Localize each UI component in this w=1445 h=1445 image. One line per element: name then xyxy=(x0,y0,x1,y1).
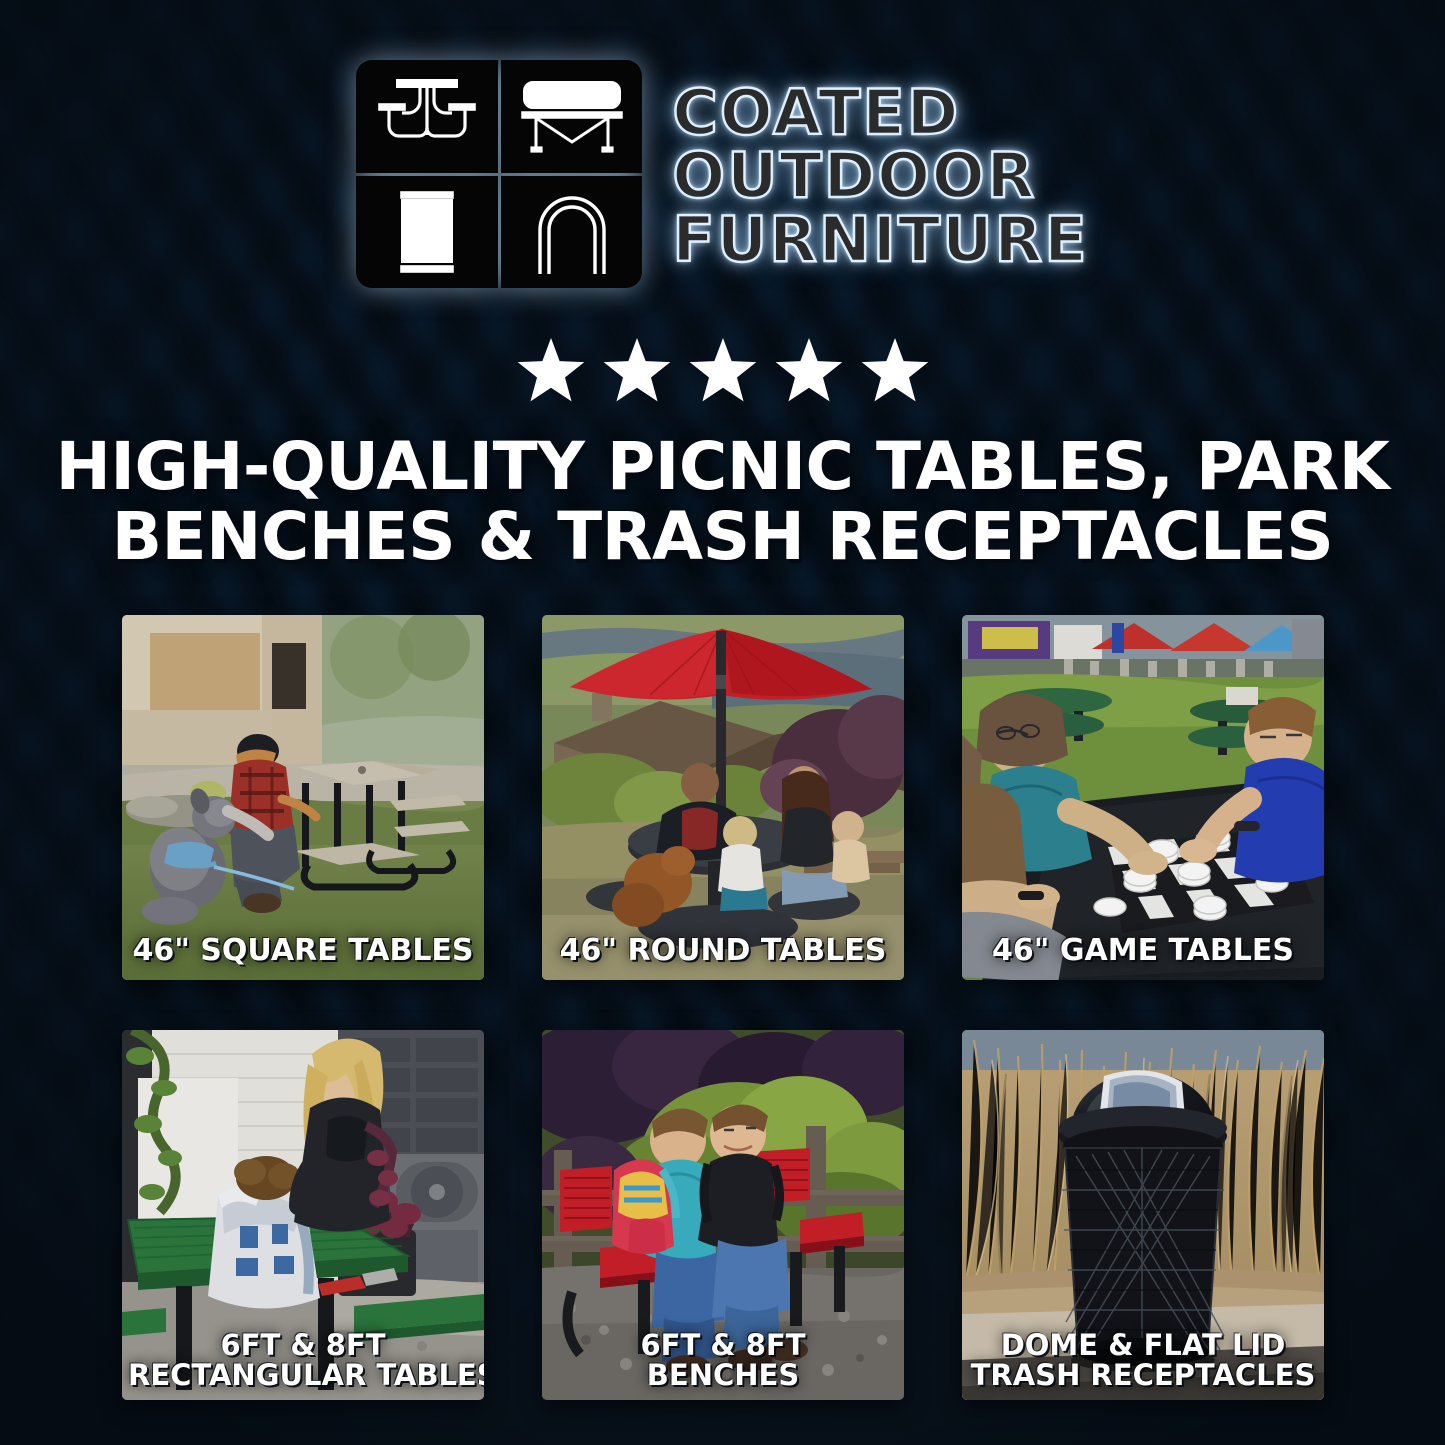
star-icon xyxy=(515,338,587,408)
brand-line-2: OUTDOOR xyxy=(672,145,1088,206)
caption-line-2: TRASH RECEPTACLES xyxy=(968,1360,1318,1390)
park-bench-icon xyxy=(501,60,643,173)
photo-square-tables xyxy=(122,615,484,980)
product-caption: 46" ROUND TABLES xyxy=(548,935,898,966)
product-caption: 6FT & 8FT BENCHES xyxy=(548,1330,898,1390)
product-tile-round-tables[interactable]: 46" ROUND TABLES xyxy=(542,615,904,980)
brand-logo: COATED OUTDOOR FURNITURE xyxy=(0,60,1445,288)
product-caption: 46" GAME TABLES xyxy=(968,935,1318,966)
product-tile-square-tables[interactable]: 46" SQUARE TABLES xyxy=(122,615,484,980)
star-icon xyxy=(773,338,845,408)
caption-line-1: 46" SQUARE TABLES xyxy=(128,935,478,966)
logo-icon-grid xyxy=(356,60,642,288)
caption-line-2: BENCHES xyxy=(548,1360,898,1390)
page-title: HIGH-QUALITY PICNIC TABLES, PARK BENCHES… xyxy=(0,432,1445,572)
photo-game-tables xyxy=(962,615,1324,980)
headline-line-2: BENCHES & TRASH RECEPTACLES xyxy=(0,502,1445,572)
caption-line-1: 6FT & 8FT xyxy=(128,1330,478,1360)
trash-receptacle-icon xyxy=(356,176,498,289)
product-caption: 6FT & 8FT RECTANGULAR TABLES xyxy=(128,1330,478,1390)
product-tile-trash-receptacles[interactable]: DOME & FLAT LID TRASH RECEPTACLES xyxy=(962,1030,1324,1400)
product-tile-benches[interactable]: 6FT & 8FT BENCHES xyxy=(542,1030,904,1400)
bike-rack-icon xyxy=(501,176,643,289)
product-caption: 46" SQUARE TABLES xyxy=(128,935,478,966)
photo-round-tables xyxy=(542,615,904,980)
product-tile-game-tables[interactable]: 46" GAME TABLES xyxy=(962,615,1324,980)
brand-wordmark: COATED OUTDOOR FURNITURE xyxy=(672,78,1088,270)
picnic-table-icon xyxy=(356,60,498,173)
product-tile-rectangular-tables[interactable]: 6FT & 8FT RECTANGULAR TABLES xyxy=(122,1030,484,1400)
brand-line-1: COATED xyxy=(672,82,1088,143)
product-caption: DOME & FLAT LID TRASH RECEPTACLES xyxy=(968,1330,1318,1390)
product-grid: 46" SQUARE TABLES xyxy=(122,615,1324,1400)
star-icon xyxy=(859,338,931,408)
caption-line-2: RECTANGULAR TABLES xyxy=(128,1360,478,1390)
caption-line-1: DOME & FLAT LID xyxy=(968,1330,1318,1360)
brand-line-3: FURNITURE xyxy=(672,209,1088,270)
caption-line-1: 46" ROUND TABLES xyxy=(548,935,898,966)
caption-line-1: 6FT & 8FT xyxy=(548,1330,898,1360)
caption-line-1: 46" GAME TABLES xyxy=(968,935,1318,966)
star-icon xyxy=(687,338,759,408)
star-icon xyxy=(601,338,673,408)
headline-line-1: HIGH-QUALITY PICNIC TABLES, PARK xyxy=(0,432,1445,502)
star-rating xyxy=(0,338,1445,408)
promotional-poster: COATED OUTDOOR FURNITURE HIGH-QUALITY PI… xyxy=(0,0,1445,1445)
